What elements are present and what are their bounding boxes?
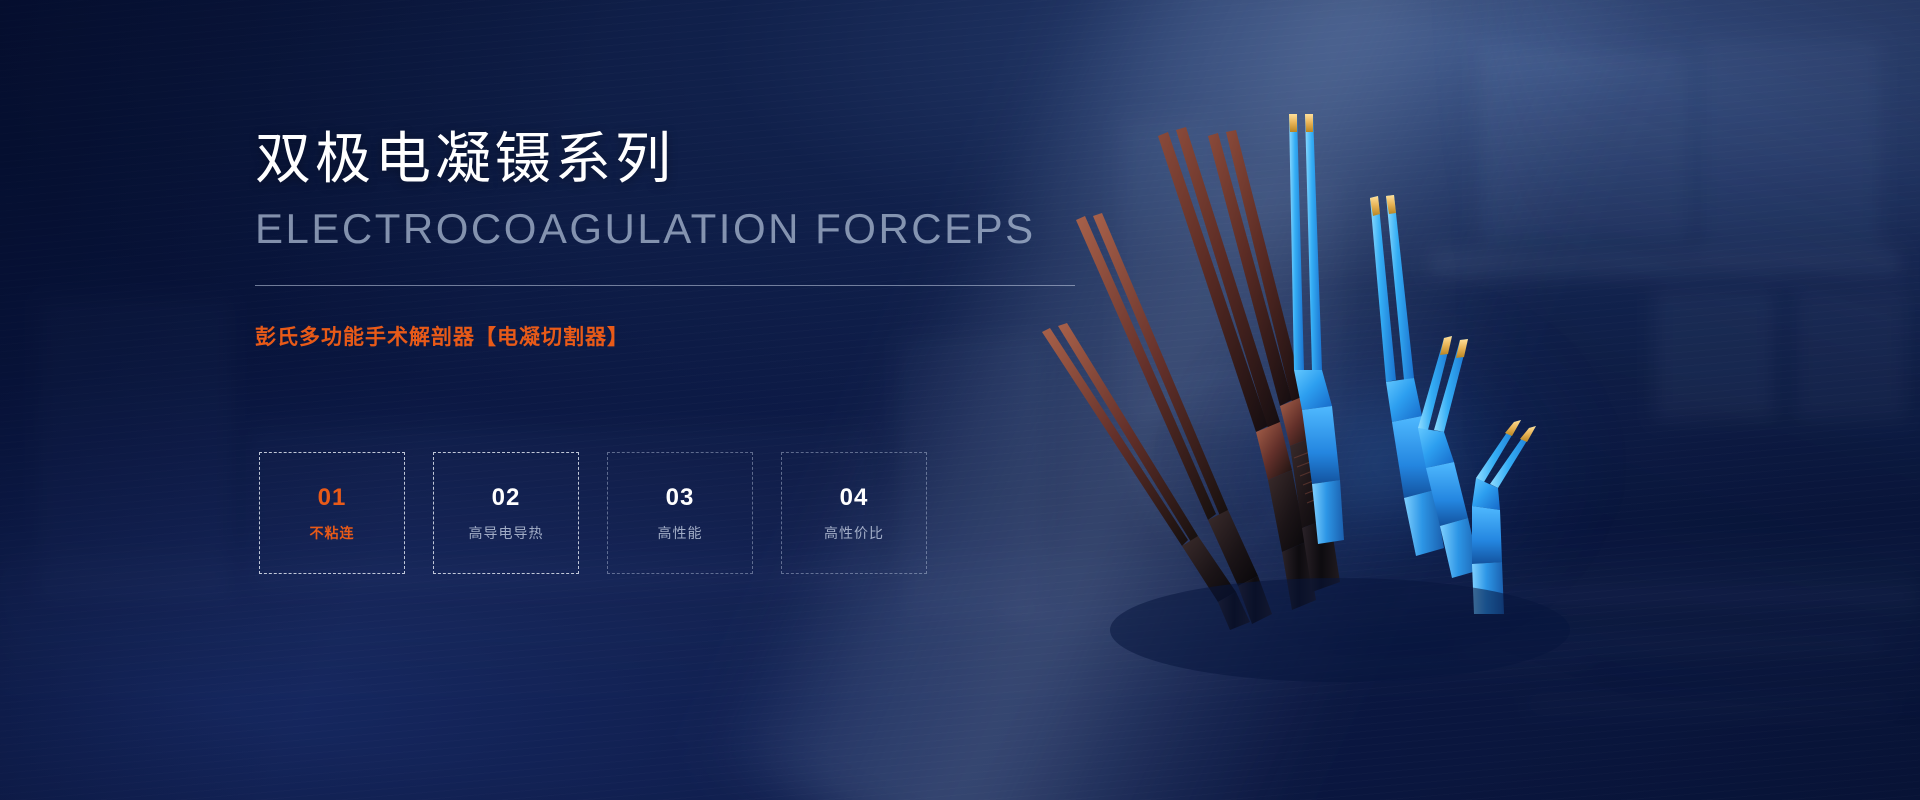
page-title: 双极电凝镊系列 <box>255 130 1155 189</box>
feature-list: 01 不粘连 02 高导电导热 03 高性能 04 高性价比 <box>259 452 927 574</box>
feature-card-04[interactable]: 04 高性价比 <box>781 452 927 574</box>
dashed-border <box>607 452 753 574</box>
feature-label: 高性价比 <box>824 526 884 540</box>
banner-text-block: 双极电凝镊系列 ELECTROCOAGULATION FORCEPS 彭氏多功能… <box>255 130 1155 351</box>
dashed-border <box>781 452 927 574</box>
product-tagline: 彭氏多功能手术解剖器【电凝切割器】 <box>255 321 1155 351</box>
page-subtitle-english: ELECTROCOAGULATION FORCEPS <box>255 205 1155 253</box>
feature-label: 高导电导热 <box>469 526 544 540</box>
forceps-blue-2 <box>1370 195 1444 556</box>
feature-card-01[interactable]: 01 不粘连 <box>259 452 405 574</box>
dashed-border <box>259 452 405 574</box>
feature-number: 02 <box>492 486 521 510</box>
title-divider <box>255 285 1075 286</box>
feature-label: 高性能 <box>658 526 703 540</box>
feature-card-03[interactable]: 03 高性能 <box>607 452 753 574</box>
dashed-border <box>433 452 579 574</box>
background-operating-room-photo <box>0 0 1920 800</box>
feature-label: 不粘连 <box>310 526 355 540</box>
feature-card-02[interactable]: 02 高导电导热 <box>433 452 579 574</box>
feature-number: 03 <box>666 486 695 510</box>
forceps-blue-4 <box>1472 420 1536 614</box>
feature-number: 04 <box>840 486 869 510</box>
feature-number: 01 <box>318 486 347 510</box>
product-banner: 双极电凝镊系列 ELECTROCOAGULATION FORCEPS 彭氏多功能… <box>0 0 1920 800</box>
